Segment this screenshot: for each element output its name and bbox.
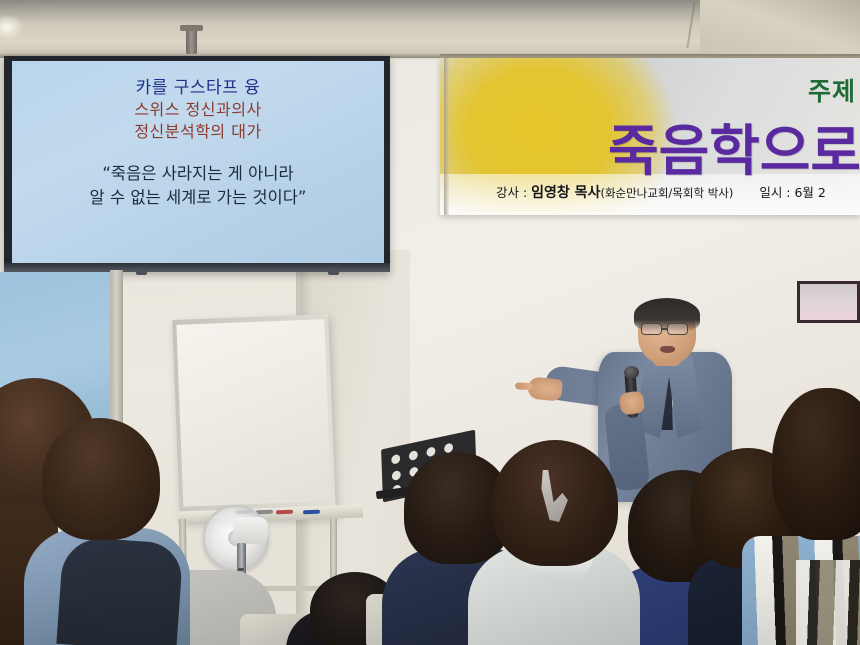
seminar-banner: 주제 죽음학으로 강사 : 임영창 목사(화순만나교회/목회학 박사) 일시 :… — [440, 58, 860, 215]
slide-subtitle-2: 정신분석학의 대가 — [134, 121, 261, 142]
slide-quote-line-2: 알 수 없는 세계로 가는 것이다” — [90, 186, 307, 211]
banner-meta-line: 강사 : 임영창 목사(화순만나교회/목회학 박사) 일시 : 6월 2 — [496, 182, 826, 202]
marker-red — [276, 510, 293, 515]
slide-quote: “죽음은 사라지는 게 아니라 알 수 없는 세계로 가는 것이다” — [90, 162, 307, 212]
ceiling-projector-mount-icon — [186, 28, 197, 54]
banner-speaker-name: 임영창 목사 — [531, 185, 600, 201]
banner-topic-label: 주제 — [808, 72, 856, 108]
banner-speaker-affiliation: (화순만나교회/목회학 박사) — [600, 186, 733, 200]
screen-mount-nub-left — [136, 270, 147, 275]
screen-mount-nub-right — [328, 270, 339, 275]
slide-title: 카를 구스타프 융 — [136, 77, 261, 99]
attendee-far-right-head — [772, 388, 860, 540]
attendee-denim-head — [42, 418, 160, 540]
marker-blue — [303, 510, 320, 515]
slide-quote-line-1: “죽음은 사라지는 게 아니라 — [90, 162, 307, 187]
banner-date-prefix: 일시 : — [759, 185, 790, 200]
standing-fan-motor — [233, 517, 268, 544]
attendee-dark-scarf — [56, 536, 183, 645]
projection-screen: 카를 구스타프 융 스위스 정신과의사 정신분석학의 대가 “죽음은 사라지는 … — [4, 56, 390, 272]
banner-title: 죽음학으로 — [608, 106, 860, 186]
banner-speaker-prefix: 강사 : — [496, 185, 527, 200]
eyeglasses-icon — [641, 323, 695, 335]
attendee-far-right-body-pattern — [796, 560, 860, 645]
slide-subtitle-1: 스위스 정신과의사 — [134, 99, 261, 120]
lecture-hall-photo: 카를 구스타프 융 스위스 정신과의사 정신분석학의 대가 “죽음은 사라지는 … — [0, 0, 860, 645]
whiteboard — [172, 314, 336, 522]
wall-art-surface — [800, 284, 857, 320]
banner-left-pole — [444, 58, 449, 215]
ceiling-beam-right — [700, 0, 860, 58]
whiteboard-surface — [176, 319, 331, 507]
ceiling-light-glow — [0, 14, 24, 40]
speaker-mouth — [660, 346, 675, 353]
banner-date-value: 6월 2 — [794, 185, 825, 200]
wall-art-panel — [797, 281, 860, 323]
projection-slide: 카를 구스타프 융 스위스 정신과의사 정신분석학의 대가 “죽음은 사라지는 … — [12, 61, 384, 264]
